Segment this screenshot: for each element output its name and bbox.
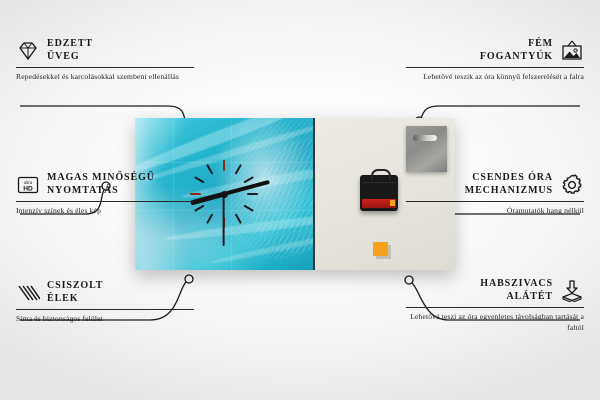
svg-text:ultra: ultra xyxy=(24,180,33,185)
metal-hanger-plate xyxy=(406,126,447,172)
feature-title-line2: FOGANTYÚK xyxy=(480,51,553,62)
feature-title-line1: CSENDES ÓRA xyxy=(472,172,553,183)
feature-title-line1: MAGAS MINŐSÉGŰ xyxy=(47,172,155,183)
feature-habszivacs-alatet: HABSZIVACSALÁTÉT Lehetővé teszi az óra e… xyxy=(406,278,584,333)
feature-title-line2: ÉLEK xyxy=(47,293,78,304)
connector-fem xyxy=(421,106,580,118)
feature-title-line1: EDZETT xyxy=(47,38,93,49)
divider xyxy=(16,201,194,202)
feature-csendes-ora-mechanizmus: CSENDES ÓRAMECHANIZMUS Óramutatók hang n… xyxy=(406,172,584,217)
ultra-hd-icon: ultra HD xyxy=(16,173,40,197)
feature-csiszolt-elek: CSISZOLTÉLEK Sima és biztonságos felület xyxy=(16,280,194,325)
feature-description: Lehetővé teszik az óra könnyű felszerelé… xyxy=(406,72,584,83)
feature-magas-minosegu-nyomtatas: ultra HD MAGAS MINŐSÉGŰNYOMTATÁS Intenzí… xyxy=(16,172,194,217)
divider xyxy=(16,309,194,310)
feature-title-line1: HABSZIVACS xyxy=(480,278,553,289)
feature-description: Sima és biztonságos felület xyxy=(16,314,194,325)
divider xyxy=(406,307,584,308)
feature-title-line2: ALÁTÉT xyxy=(506,291,553,302)
feature-description: Intenzív színek és éles kép xyxy=(16,206,194,217)
divider xyxy=(406,67,584,68)
clock-second-hand xyxy=(223,194,225,246)
foam-pad-icon xyxy=(560,279,584,303)
clock-mechanism xyxy=(360,175,398,211)
picture-hanger-icon xyxy=(560,39,584,63)
feature-edzett-uveg: EDZETTÜVEG Repedésekkel és karcolásokkal… xyxy=(16,38,194,83)
feature-fem-fogantyuk: FÉMFOGANTYÚK Lehetővé teszik az óra könn… xyxy=(406,38,584,83)
feature-description: Repedésekkel és karcolásokkal szembeni e… xyxy=(16,72,194,83)
feature-title-line1: FÉM xyxy=(528,38,553,49)
diamond-icon xyxy=(16,39,40,63)
feature-title-line2: ÜVEG xyxy=(47,51,80,62)
feature-description: Óramutatók hang nélkül xyxy=(406,206,584,217)
feature-description: Lehetővé teszi az óra egyenletes távolsá… xyxy=(406,312,584,333)
gear-icon xyxy=(560,173,584,197)
clock-center-cap xyxy=(221,191,228,198)
polished-edges-icon xyxy=(16,281,40,305)
divider xyxy=(16,67,194,68)
infographic-canvas: EDZETTÜVEG Repedésekkel és karcolásokkal… xyxy=(0,0,600,400)
divider xyxy=(406,201,584,202)
svg-text:HD: HD xyxy=(23,185,33,192)
feature-title-line2: MECHANIZMUS xyxy=(465,185,553,196)
feature-title-line2: NYOMTATÁS xyxy=(47,185,119,196)
feature-title-line1: CSISZOLT xyxy=(47,280,103,291)
foam-pad xyxy=(373,242,388,256)
